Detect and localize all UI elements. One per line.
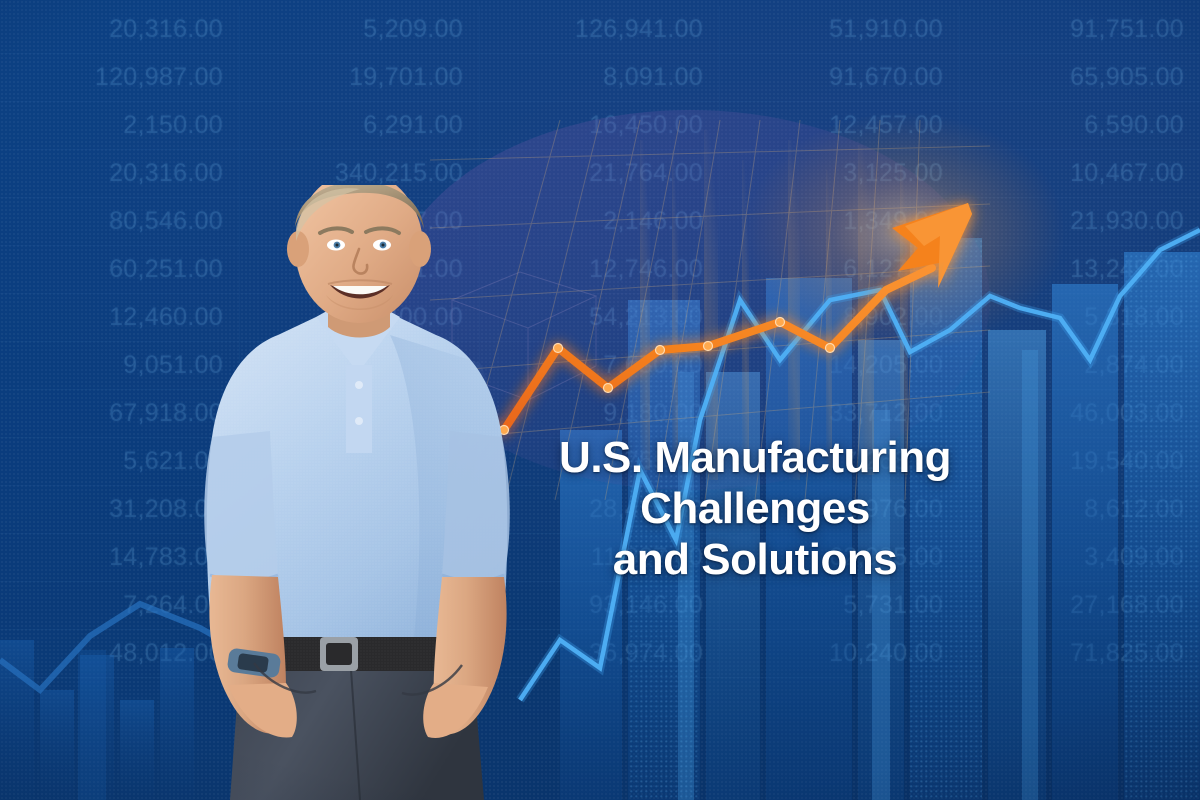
headline-line-2: Challenges	[500, 483, 1010, 534]
left-sleeve	[204, 431, 278, 577]
shirt-button	[355, 381, 363, 389]
shirt-button	[355, 417, 363, 425]
headline-line-3: and Solutions	[500, 534, 1010, 585]
placket	[346, 365, 372, 453]
hero-banner: 20,316.005,209.00126,941.0051,910.0091,7…	[0, 0, 1200, 800]
page-title: U.S. Manufacturing Challenges and Soluti…	[500, 432, 1010, 585]
headline-line-1: U.S. Manufacturing	[500, 432, 1010, 483]
